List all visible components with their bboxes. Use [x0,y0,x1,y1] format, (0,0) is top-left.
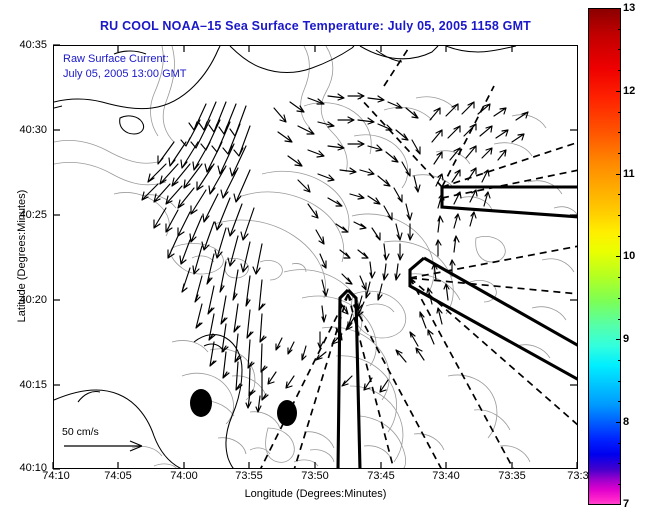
annotation-line-2: July 05, 2005 13:00 GMT [63,67,187,82]
colorbar-label: 13 [623,2,635,14]
colorbar-ticks [588,8,621,505]
x-tick-label: 73:45 [367,470,395,482]
scale-bar: 50 cm/s [62,426,148,453]
colorbar-label: 11 [623,168,635,180]
colorbar-tick-labels: 13 12 11 10 9 8 7 [623,8,651,505]
current-vector-field [142,93,528,412]
plot-annotation: Raw Surface Current: July 05, 2005 13:00… [63,52,187,82]
y-axis-title: Latitude (Degrees:Minutes) [16,146,28,366]
annotation-line-1: Raw Surface Current: [63,52,187,67]
map-overlay-svg [54,46,578,469]
x-tick-label: 73:35 [498,470,526,482]
colorbar-label: 8 [623,416,629,428]
colorbar: 13 12 11 10 9 8 7 [588,8,621,505]
figure-title: RU COOL NOAA–15 Sea Surface Temperature:… [53,19,578,33]
scale-bar-arrow-icon [62,439,148,453]
colorbar-label: 10 [623,250,635,262]
colorbar-label: 7 [623,498,629,510]
radar-beam-lines-dashed [260,46,578,469]
plot-area: Raw Surface Current: July 05, 2005 13:00… [53,45,578,469]
x-axis-tick-labels: 74:10 74:05 74:00 73:55 73:50 73:45 73:4… [0,470,651,486]
radar-beam-lines-solid [338,187,578,469]
radar-station-markers [190,389,297,426]
x-tick-label: 73:3 [567,470,588,482]
y-tick-label: 40:30 [19,124,47,136]
x-tick-label: 73:40 [432,470,460,482]
y-tick-label: 40:15 [19,379,47,391]
colorbar-label: 9 [623,333,629,345]
y-tick-label: 40:35 [19,39,47,51]
plot-canvas: Raw Surface Current: July 05, 2005 13:00… [54,46,577,468]
figure-root: RU COOL NOAA–15 Sea Surface Temperature:… [0,0,651,515]
sst-contour-lines [54,46,578,469]
scale-bar-label: 50 cm/s [62,426,148,438]
y-tick-label: 40:10 [19,462,47,474]
x-tick-label: 74:00 [170,470,198,482]
x-tick-label: 73:50 [301,470,329,482]
colorbar-label: 12 [623,85,635,97]
x-axis-title: Longitude (Degrees:Minutes) [53,488,578,500]
x-tick-label: 74:05 [104,470,132,482]
x-tick-label: 73:55 [235,470,263,482]
